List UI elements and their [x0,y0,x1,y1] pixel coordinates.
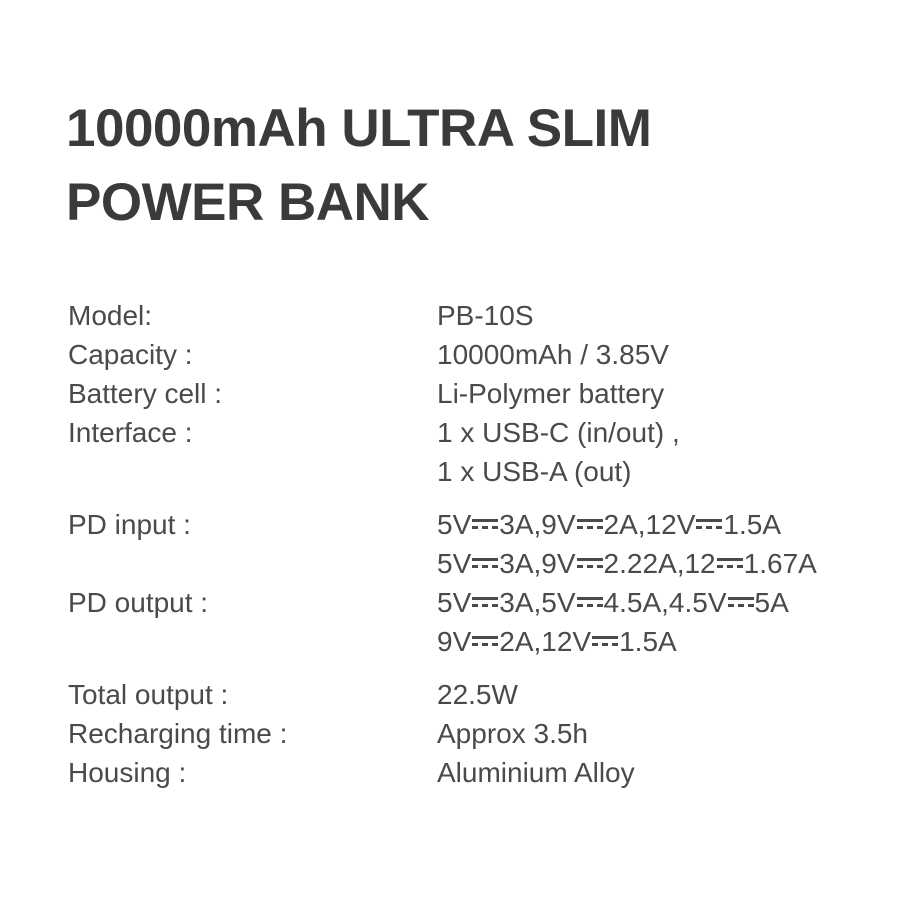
spec-value-text: 3A,9V [499,509,575,540]
dc-current-icon [728,585,754,612]
spec-value-text: 9V [437,626,471,657]
spec-row: 5V3A,9V2.22A,121.67A [68,544,888,583]
dc-current-icon [472,546,498,573]
spec-value-text: 4.5A,4.5V [604,587,727,618]
spec-value-text: 5A [755,587,789,618]
dc-current-icon [717,546,743,573]
dc-current-icon [696,507,722,534]
spec-row: PD input :5V3A,9V2A,12V1.5A [68,505,888,544]
spec-label: PD output : [68,583,437,622]
spec-label: Capacity : [68,335,437,374]
spec-value: 5V3A,9V2.22A,121.67A [437,544,888,583]
spec-row: Model:PB-10S [68,296,888,335]
spec-row: Housing :Aluminium Alloy [68,753,888,792]
spec-row: Recharging time :Approx 3.5h [68,714,888,753]
page-title-line-1: 10000mAh ULTRA SLIM [66,92,856,166]
spec-value-text: 5V [437,509,471,540]
spec-value-text: 1.5A [619,626,677,657]
spec-value: 1 x USB-C (in/out) , [437,413,888,452]
spec-value: 9V2A,12V1.5A [437,622,888,661]
specification-list: Model:PB-10SCapacity :10000mAh / 3.85VBa… [68,296,888,792]
spec-value: 5V3A,5V4.5A,4.5V5A [437,583,888,622]
spec-value: 22.5W [437,675,888,714]
dc-current-icon [577,585,603,612]
spec-row: 9V2A,12V1.5A [68,622,888,661]
spec-value: 1 x USB-A (out) [437,452,888,491]
dc-current-icon [472,585,498,612]
spec-label: Battery cell : [68,374,437,413]
spec-label: PD input : [68,505,437,544]
spec-value-text: 1.67A [744,548,817,579]
spec-value-text: 2A,12V [604,509,696,540]
spec-value: 5V3A,9V2A,12V1.5A [437,505,888,544]
spec-row: Interface :1 x USB-C (in/out) , [68,413,888,452]
spec-value: 10000mAh / 3.85V [437,335,888,374]
spec-value-text: 1.5A [723,509,781,540]
page-title-line-2: POWER BANK [66,166,856,240]
dc-current-icon [592,624,618,651]
spec-value: Approx 3.5h [437,714,888,753]
spec-label: Total output : [68,675,437,714]
spec-value: Aluminium Alloy [437,753,888,792]
spec-value-text: 5V [437,548,471,579]
dc-current-icon [472,624,498,651]
spec-label: Model: [68,296,437,335]
spec-value: PB-10S [437,296,888,335]
dc-current-icon [577,507,603,534]
spec-value: Li-Polymer battery [437,374,888,413]
spec-row: Battery cell :Li-Polymer battery [68,374,888,413]
spec-value-text: 2.22A,12 [604,548,716,579]
spec-label: Recharging time : [68,714,437,753]
spec-row: Capacity :10000mAh / 3.85V [68,335,888,374]
spec-value-text: 2A,12V [499,626,591,657]
page-title: 10000mAh ULTRA SLIM POWER BANK [66,92,856,240]
dc-current-icon [472,507,498,534]
spec-row: Total output :22.5W [68,675,888,714]
spec-value-text: 3A,9V [499,548,575,579]
spec-label: Interface : [68,413,437,452]
spec-label: Housing : [68,753,437,792]
spec-value-text: 5V [437,587,471,618]
spec-row: PD output :5V3A,5V4.5A,4.5V5A [68,583,888,622]
product-spec-sheet: 10000mAh ULTRA SLIM POWER BANK Model:PB-… [0,0,900,900]
dc-current-icon [577,546,603,573]
spec-value-text: 3A,5V [499,587,575,618]
spec-row: 1 x USB-A (out) [68,452,888,491]
